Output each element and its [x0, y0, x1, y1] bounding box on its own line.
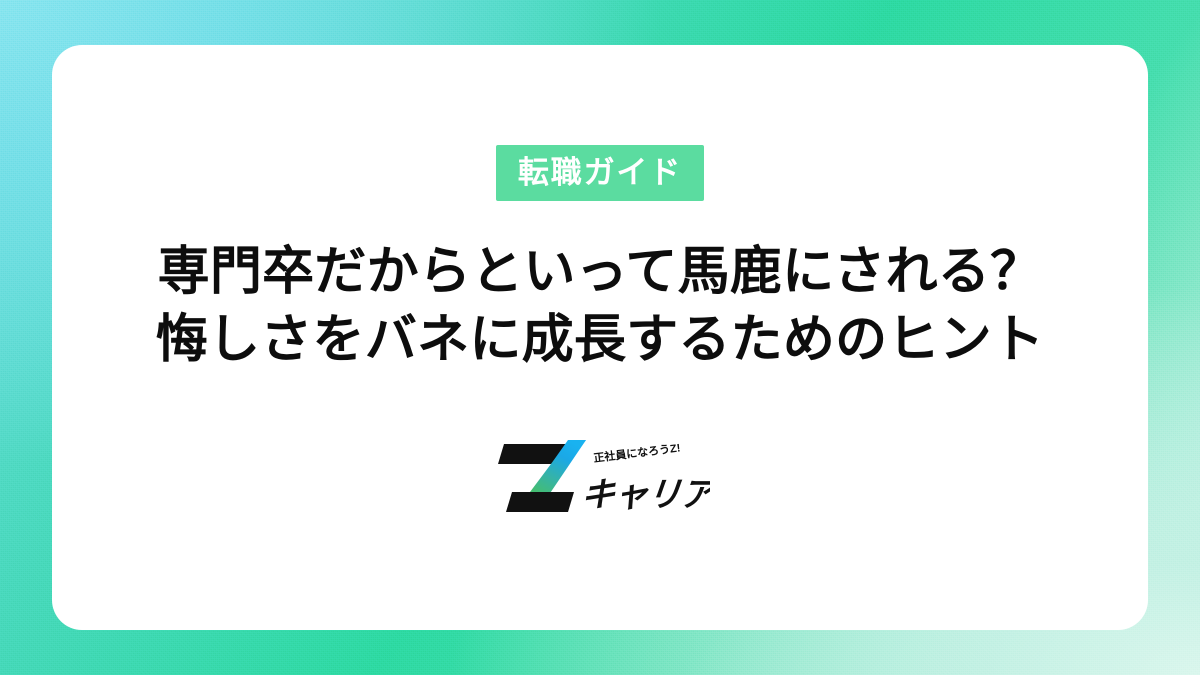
- page-title-line-1: 専門卒だからといって馬鹿にされる？: [156, 239, 1044, 307]
- page-title-line-2: 悔しさをバネに成長するためのヒント: [156, 307, 1044, 375]
- brand-logo: 正社員になろうZ! キャリア Zキャリア 正社員になろうZ!: [490, 430, 710, 516]
- brand-logo-alt-text: Zキャリア 正社員になろうZ!: [490, 516, 491, 517]
- logo-z-mark: [498, 440, 586, 512]
- page-title: 専門卒だからといって馬鹿にされる？ 悔しさをバネに成長するためのヒント: [156, 239, 1044, 374]
- category-badge: 転職ガイド: [496, 145, 704, 201]
- ogp-card-page: 転職ガイド 専門卒だからといって馬鹿にされる？ 悔しさをバネに成長するためのヒン…: [0, 0, 1200, 675]
- logo-tagline: 正社員になろうZ!: [593, 441, 681, 466]
- svg-text:キャリア: キャリア: [579, 476, 710, 514]
- content-card: 転職ガイド 専門卒だからといって馬鹿にされる？ 悔しさをバネに成長するためのヒン…: [52, 45, 1148, 630]
- logo-wordmark: キャリア: [579, 476, 710, 514]
- svg-text:正社員になろうZ!: 正社員になろうZ!: [593, 441, 681, 466]
